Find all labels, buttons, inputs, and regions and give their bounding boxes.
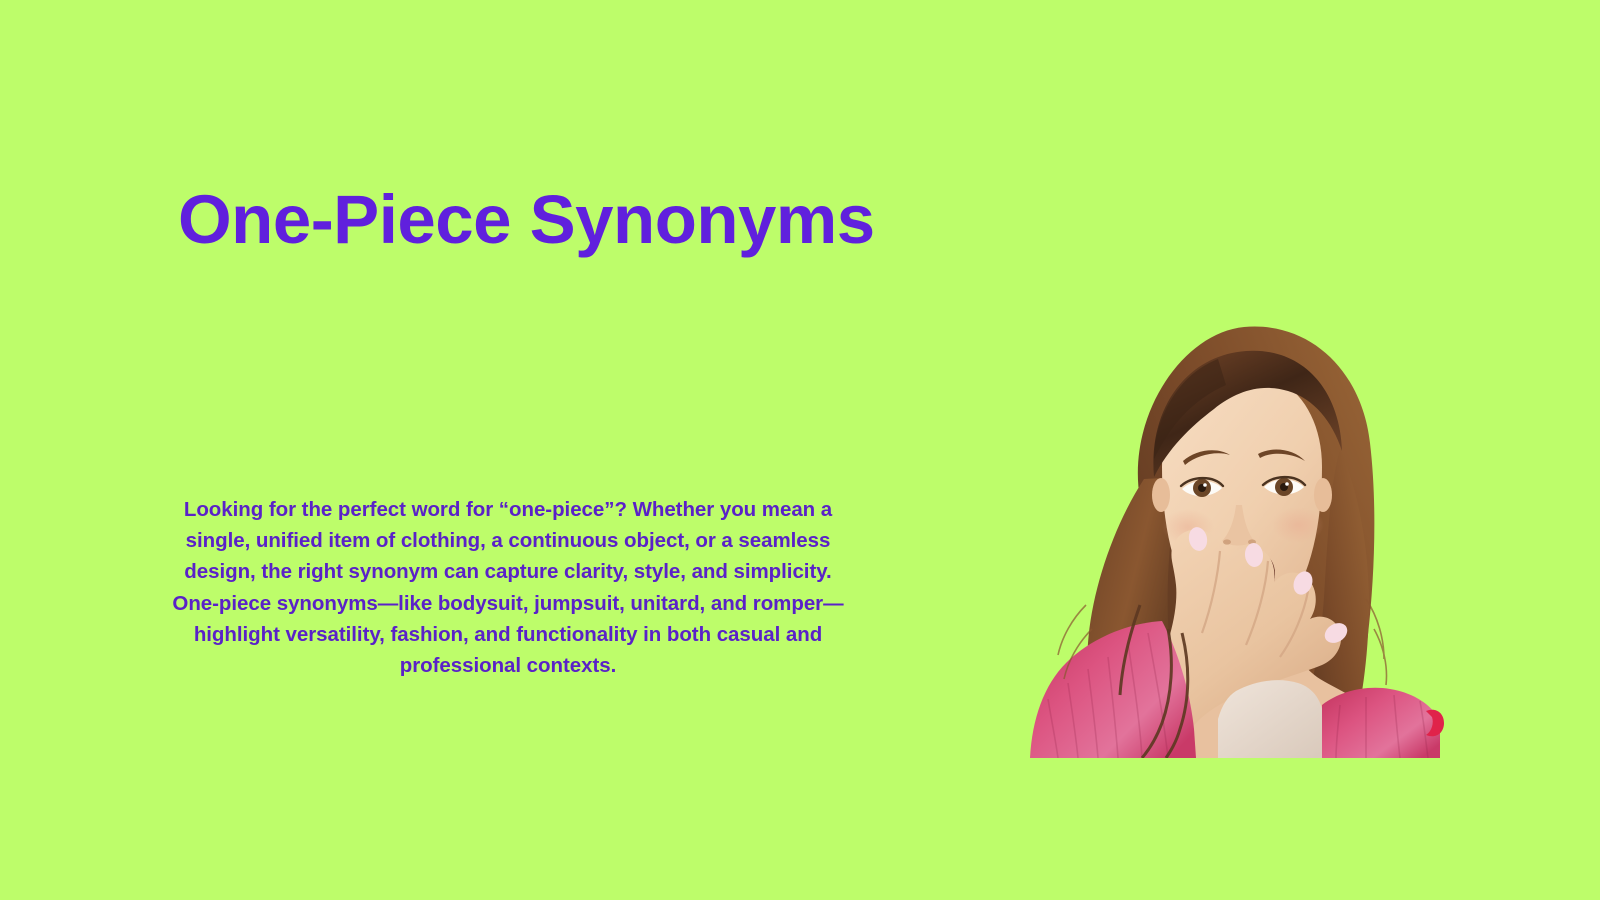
page-title: One-Piece Synonyms: [178, 185, 875, 254]
hero-photo: [1022, 299, 1444, 758]
cheek-right: [1272, 507, 1324, 543]
ear-left: [1152, 478, 1170, 512]
ear-right: [1314, 478, 1332, 512]
woman-surprised-photo: [1022, 299, 1444, 758]
content-column: One-Piece Synonyms Looking for the perfe…: [0, 0, 1000, 900]
intro-paragraph: Looking for the perfect word for “one-pi…: [166, 494, 850, 681]
page-root: One-Piece Synonyms Looking for the perfe…: [0, 0, 1600, 900]
